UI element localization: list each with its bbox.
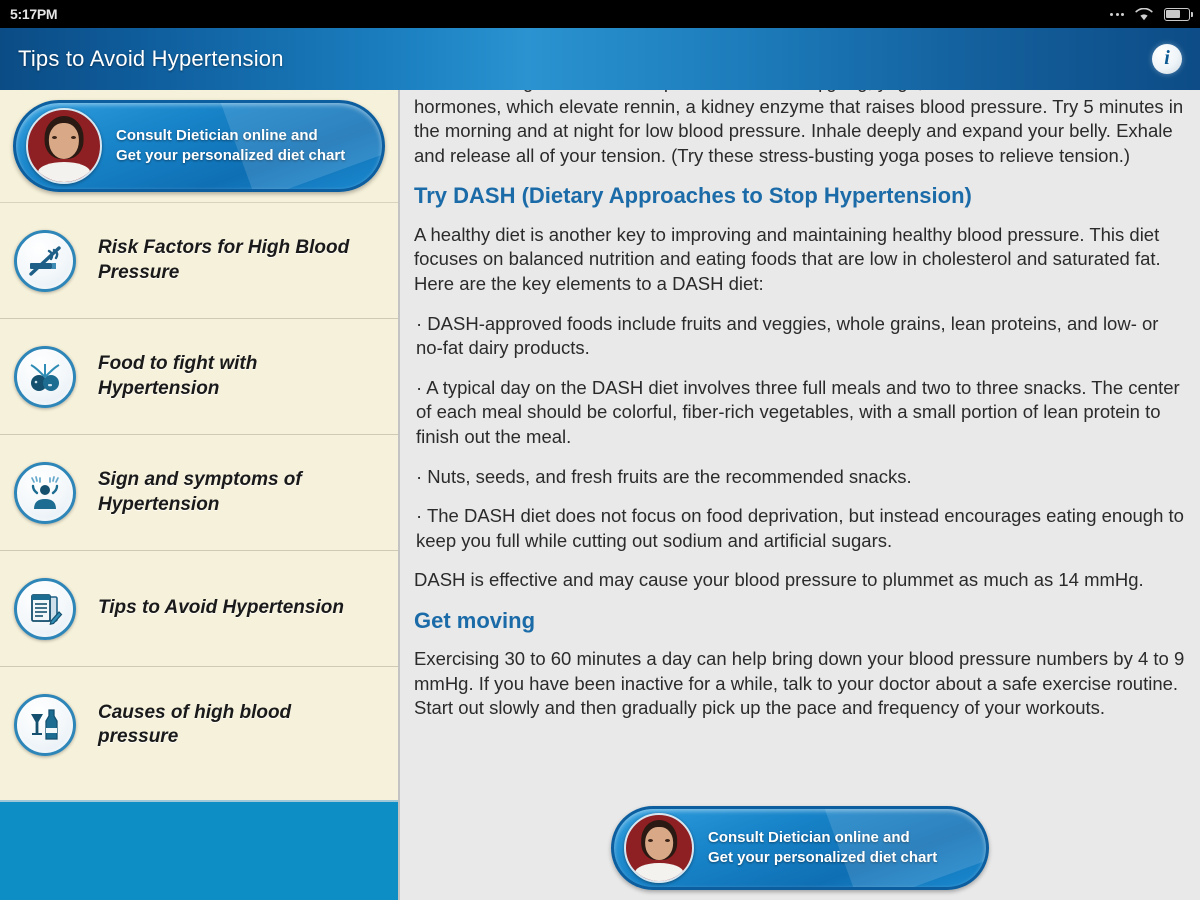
dietician-avatar	[26, 108, 102, 184]
ellipsis-icon	[1110, 13, 1124, 16]
paragraph-breathing: slow breathing and meditative practices …	[414, 90, 1186, 168]
heading-get-moving: Get moving	[414, 608, 1186, 634]
sidebar-item-causes[interactable]: Causes of high blood pressure	[0, 667, 398, 783]
no-smoking-icon	[14, 230, 76, 292]
article-content[interactable]: slow breathing and meditative practices …	[400, 90, 1200, 900]
wifi-icon	[1135, 8, 1153, 21]
bullet-snacks: · Nuts, seeds, and fresh fruits are the …	[414, 465, 1186, 490]
sidebar-item-label: Risk Factors for High Blood Pressure	[98, 236, 368, 285]
dietician-avatar	[624, 813, 694, 883]
bullet-no-deprivation: · The DASH diet does not focus on food d…	[414, 504, 1186, 553]
heading-try-dash: Try DASH (Dietary Approaches to Stop Hyp…	[414, 183, 1186, 209]
sidebar-item-label: Tips to Avoid Hypertension	[98, 596, 344, 620]
ad-pill[interactable]: Consult Dietician online and Get your pe…	[13, 100, 385, 192]
berries-icon	[14, 346, 76, 408]
stressed-person-icon	[14, 462, 76, 524]
sidebar-item-signs[interactable]: Sign and symptoms of Hypertension	[0, 435, 398, 551]
ad-line-1: Consult Dietician online and	[116, 126, 345, 146]
sidebar-item-label: Food to fight with Hypertension	[98, 352, 368, 401]
bullet-typical-day: · A typical day on the DASH diet involve…	[414, 376, 1186, 450]
info-icon-glyph: i	[1164, 48, 1170, 70]
page-title: Tips to Avoid Hypertension	[18, 46, 284, 72]
sidebar-ad-banner[interactable]: Consult Dietician online and Get your pe…	[0, 90, 398, 203]
sidebar: Consult Dietician online and Get your pe…	[0, 90, 400, 900]
ad-text: Consult Dietician online and Get your pe…	[116, 126, 345, 167]
status-bar-time: 5:17PM	[10, 6, 57, 22]
ad-line-1: Consult Dietician online and	[708, 828, 937, 848]
info-icon[interactable]: i	[1152, 44, 1182, 74]
status-bar: 5:17PM	[0, 0, 1200, 28]
ad-text: Consult Dietician online and Get your pe…	[708, 828, 937, 869]
sidebar-item-label: Causes of high blood pressure	[98, 701, 368, 750]
sidebar-footer	[0, 800, 398, 900]
ad-line-2: Get your personalized diet chart	[116, 146, 345, 166]
battery-icon	[1164, 8, 1190, 21]
alcohol-icon	[14, 694, 76, 756]
body-area: Consult Dietician online and Get your pe…	[0, 90, 1200, 900]
notepad-icon	[14, 578, 76, 640]
sidebar-item-tips[interactable]: Tips to Avoid Hypertension	[0, 551, 398, 667]
bullet-dash-foods: · DASH-approved foods include fruits and…	[414, 312, 1186, 361]
content-ad-banner[interactable]: Consult Dietician online and Get your pe…	[400, 796, 1200, 900]
paragraph-exercise: Exercising 30 to 60 minutes a day can he…	[414, 647, 1186, 721]
sidebar-item-risk-factors[interactable]: Risk Factors for High Blood Pressure	[0, 203, 398, 319]
sidebar-item-food[interactable]: Food to fight with Hypertension	[0, 319, 398, 435]
sidebar-nav: Risk Factors for High Blood Pressure Foo…	[0, 203, 398, 800]
paragraph-dash-closing: DASH is effective and may cause your blo…	[414, 568, 1186, 593]
article-scroll-body: slow breathing and meditative practices …	[414, 90, 1186, 736]
ad-line-2: Get your personalized diet chart	[708, 848, 937, 868]
status-bar-icons	[1110, 8, 1190, 21]
app-header: Tips to Avoid Hypertension i	[0, 28, 1200, 90]
sidebar-item-label: Sign and symptoms of Hypertension	[98, 468, 368, 517]
paragraph-dash-intro: A healthy diet is another key to improvi…	[414, 223, 1186, 297]
ad-pill[interactable]: Consult Dietician online and Get your pe…	[611, 806, 989, 890]
